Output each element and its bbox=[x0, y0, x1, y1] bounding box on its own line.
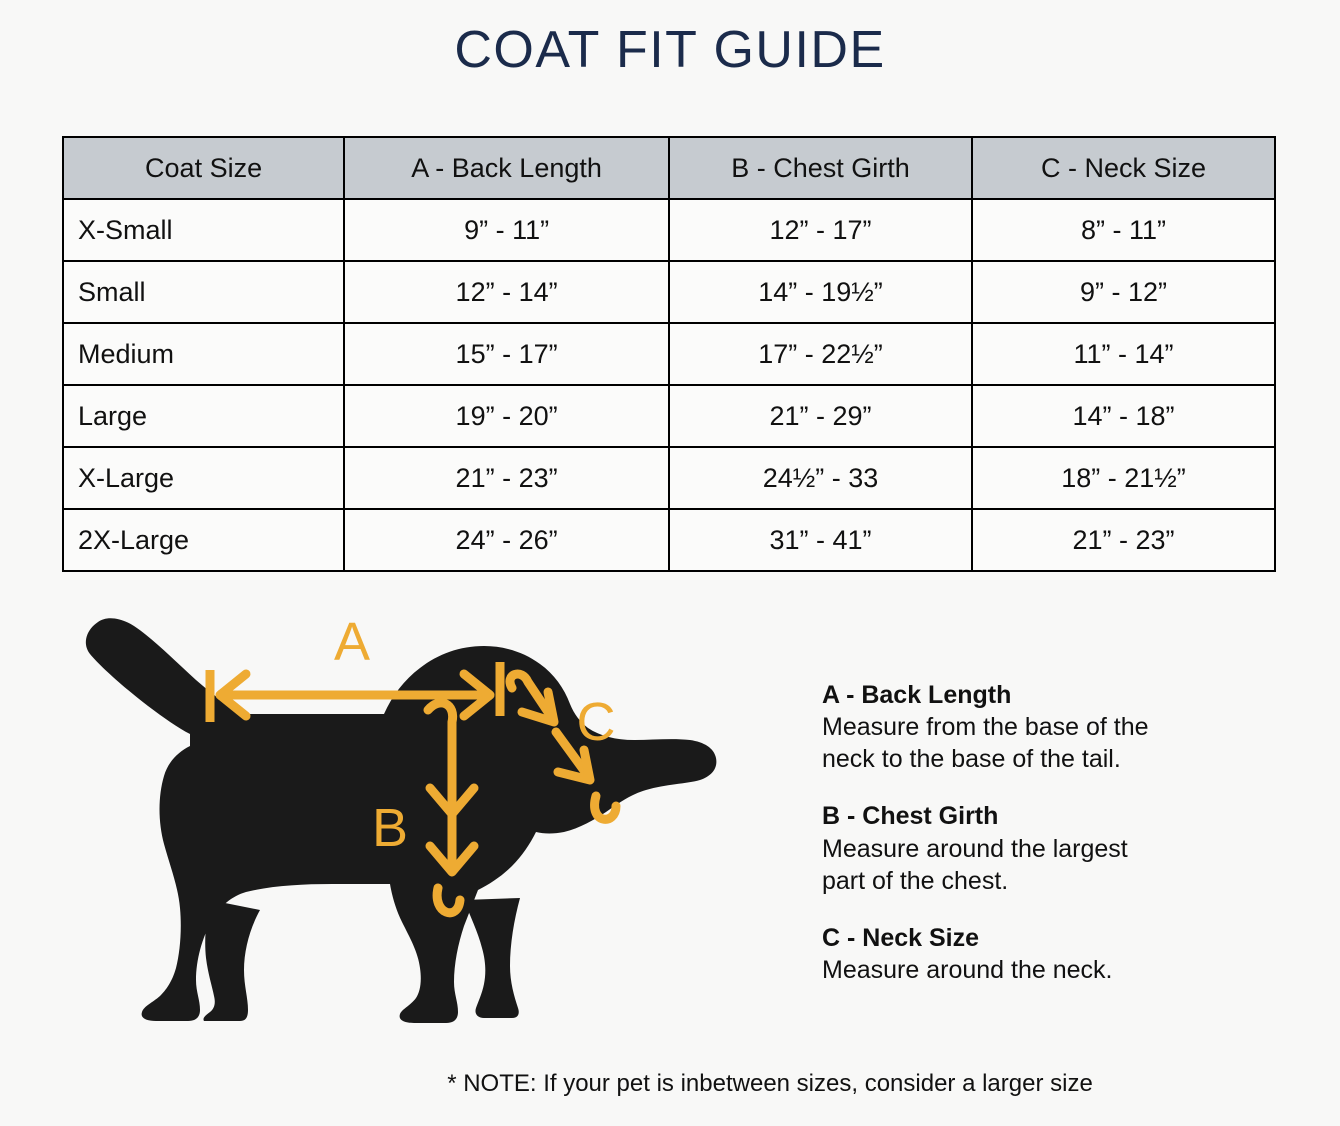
legend-item-neck-size: C - Neck Size Measure around the neck. bbox=[822, 923, 1242, 986]
cell-back-length: 21” - 23” bbox=[344, 447, 669, 509]
cell-size: 2X-Large bbox=[63, 509, 344, 571]
legend-heading: C - Neck Size bbox=[822, 923, 1242, 954]
table-row: Small 12” - 14” 14” - 19½” 9” - 12” bbox=[63, 261, 1275, 323]
cell-neck-size: 9” - 12” bbox=[972, 261, 1275, 323]
cell-chest-girth: 21” - 29” bbox=[669, 385, 972, 447]
page-title: COAT FIT GUIDE bbox=[0, 0, 1340, 79]
footer-note: * NOTE: If your pet is inbetween sizes, … bbox=[0, 1070, 1300, 1098]
diagram-label-b: B bbox=[372, 798, 408, 858]
table-row: Large 19” - 20” 21” - 29” 14” - 18” bbox=[63, 385, 1275, 447]
diagram-label-a: A bbox=[334, 612, 370, 672]
dog-measurement-diagram: A B C bbox=[60, 600, 760, 1040]
cell-neck-size: 21” - 23” bbox=[972, 509, 1275, 571]
cell-size: Small bbox=[63, 261, 344, 323]
legend-heading: A - Back Length bbox=[822, 680, 1242, 711]
legend-text-line-2: part of the chest. bbox=[822, 865, 1242, 897]
column-header-neck-size: C - Neck Size bbox=[972, 137, 1275, 199]
cell-back-length: 19” - 20” bbox=[344, 385, 669, 447]
diagram-label-c: C bbox=[577, 692, 616, 752]
cell-back-length: 9” - 11” bbox=[344, 199, 669, 261]
column-header-back-length: A - Back Length bbox=[344, 137, 669, 199]
cell-back-length: 24” - 26” bbox=[344, 509, 669, 571]
cell-size: X-Large bbox=[63, 447, 344, 509]
table-row: X-Small 9” - 11” 12” - 17” 8” - 11” bbox=[63, 199, 1275, 261]
size-chart-table: Coat Size A - Back Length B - Chest Girt… bbox=[62, 136, 1276, 572]
table-row: 2X-Large 24” - 26” 31” - 41” 21” - 23” bbox=[63, 509, 1275, 571]
cell-size: Large bbox=[63, 385, 344, 447]
legend-text-line-1: Measure from the base of the bbox=[822, 711, 1242, 743]
table-row: X-Large 21” - 23” 24½” - 33 18” - 21½” bbox=[63, 447, 1275, 509]
legend-heading: B - Chest Girth bbox=[822, 801, 1242, 832]
legend-item-back-length: A - Back Length Measure from the base of… bbox=[822, 680, 1242, 775]
table-row: Medium 15” - 17” 17” - 22½” 11” - 14” bbox=[63, 323, 1275, 385]
measurement-legend: A - Back Length Measure from the base of… bbox=[822, 680, 1242, 986]
cell-back-length: 12” - 14” bbox=[344, 261, 669, 323]
size-chart-table-wrapper: Coat Size A - Back Length B - Chest Girt… bbox=[62, 136, 1276, 572]
cell-neck-size: 11” - 14” bbox=[972, 323, 1275, 385]
legend-item-chest-girth: B - Chest Girth Measure around the large… bbox=[822, 801, 1242, 896]
cell-neck-size: 14” - 18” bbox=[972, 385, 1275, 447]
legend-text-line-1: Measure around the neck. bbox=[822, 954, 1242, 986]
cell-neck-size: 8” - 11” bbox=[972, 199, 1275, 261]
column-header-chest-girth: B - Chest Girth bbox=[669, 137, 972, 199]
cell-size: Medium bbox=[63, 323, 344, 385]
column-header-coat-size: Coat Size bbox=[63, 137, 344, 199]
cell-size: X-Small bbox=[63, 199, 344, 261]
cell-neck-size: 18” - 21½” bbox=[972, 447, 1275, 509]
cell-chest-girth: 14” - 19½” bbox=[669, 261, 972, 323]
cell-chest-girth: 31” - 41” bbox=[669, 509, 972, 571]
cell-back-length: 15” - 17” bbox=[344, 323, 669, 385]
cell-chest-girth: 24½” - 33 bbox=[669, 447, 972, 509]
table-header-row: Coat Size A - Back Length B - Chest Girt… bbox=[63, 137, 1275, 199]
legend-text-line-2: neck to the base of the tail. bbox=[822, 743, 1242, 775]
legend-text-line-1: Measure around the largest bbox=[822, 833, 1242, 865]
cell-chest-girth: 12” - 17” bbox=[669, 199, 972, 261]
cell-chest-girth: 17” - 22½” bbox=[669, 323, 972, 385]
